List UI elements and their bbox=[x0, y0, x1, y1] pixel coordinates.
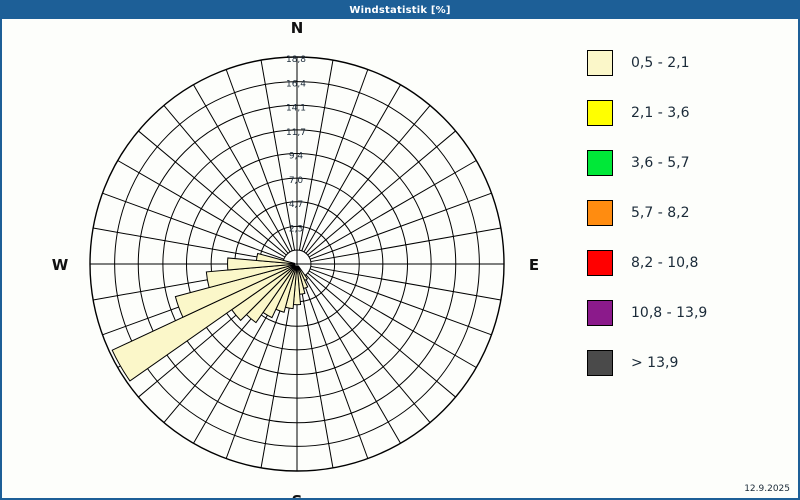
grid-spoke bbox=[304, 276, 401, 443]
petal-group bbox=[112, 253, 308, 380]
grid-spoke bbox=[299, 278, 333, 468]
radial-tick-label: 2,3 bbox=[289, 224, 303, 234]
legend: 0,5 - 2,12,1 - 3,63,6 - 5,75,7 - 8,28,2 … bbox=[587, 38, 787, 388]
legend-label: 8,2 - 10,8 bbox=[631, 255, 698, 271]
grid-spoke bbox=[302, 69, 368, 250]
legend-label: 5,7 - 8,2 bbox=[631, 205, 689, 221]
radial-tick-label: 16,4 bbox=[286, 80, 306, 90]
grid-spoke bbox=[311, 266, 501, 300]
legend-item[interactable]: 0,5 - 2,1 bbox=[587, 38, 787, 88]
legend-label: 3,6 - 5,7 bbox=[631, 155, 689, 171]
legend-swatch bbox=[587, 300, 613, 326]
legend-item[interactable]: 10,8 - 13,9 bbox=[587, 288, 787, 338]
legend-swatch bbox=[587, 100, 613, 126]
radial-tick-labels: 2,34,77,09,411,714,116,418,8 bbox=[286, 55, 306, 234]
legend-item[interactable]: 5,7 - 8,2 bbox=[587, 188, 787, 238]
grid-spoke bbox=[310, 193, 491, 259]
grid-spoke bbox=[311, 228, 501, 262]
window-titlebar: Windstatistik [%] bbox=[2, 2, 798, 19]
grid-spoke bbox=[308, 273, 456, 397]
polar-grid bbox=[90, 57, 504, 471]
legend-item[interactable]: 2,1 - 3,6 bbox=[587, 88, 787, 138]
legend-label: 10,8 - 13,9 bbox=[631, 305, 707, 321]
grid-spoke bbox=[226, 69, 292, 250]
legend-swatch bbox=[587, 350, 613, 376]
date-stamp: 12.9.2025 bbox=[744, 484, 790, 494]
legend-label: > 13,9 bbox=[631, 355, 678, 371]
radial-tick-label: 7,0 bbox=[289, 176, 304, 186]
chart-window: Windstatistik [%] 2,34,77,09,411,714,116… bbox=[0, 0, 800, 500]
grid-spoke bbox=[306, 105, 430, 253]
grid-spoke bbox=[118, 161, 285, 258]
cardinal-label-north: N bbox=[291, 19, 304, 37]
cardinal-label-south: S bbox=[292, 492, 303, 498]
window-title: Windstatistik [%] bbox=[349, 5, 450, 16]
cardinal-label-east: E bbox=[529, 256, 539, 274]
legend-item[interactable]: 3,6 - 5,7 bbox=[587, 138, 787, 188]
legend-swatch bbox=[587, 200, 613, 226]
grid-spoke bbox=[304, 85, 401, 252]
grid-spoke bbox=[308, 131, 456, 255]
radial-tick-label: 4,7 bbox=[289, 200, 303, 210]
legend-swatch bbox=[587, 50, 613, 76]
legend-label: 2,1 - 3,6 bbox=[631, 105, 689, 121]
radial-tick-label: 18,8 bbox=[286, 55, 306, 65]
legend-swatch bbox=[587, 250, 613, 276]
grid-spoke bbox=[306, 275, 430, 423]
grid-spoke bbox=[302, 277, 368, 458]
radial-tick-label: 9,4 bbox=[289, 152, 304, 162]
grid-spoke bbox=[138, 131, 286, 255]
grid-spoke bbox=[164, 105, 288, 253]
legend-item[interactable]: > 13,9 bbox=[587, 338, 787, 388]
grid-spoke bbox=[102, 193, 283, 259]
legend-item[interactable]: 8,2 - 10,8 bbox=[587, 238, 787, 288]
legend-swatch bbox=[587, 150, 613, 176]
legend-label: 0,5 - 2,1 bbox=[631, 55, 689, 71]
grid-spoke bbox=[309, 271, 476, 368]
grid-spoke bbox=[309, 161, 476, 258]
grid-spoke bbox=[194, 85, 291, 252]
radial-tick-label: 14,1 bbox=[286, 103, 306, 113]
cardinal-label-west: W bbox=[52, 256, 69, 274]
radial-tick-label: 11,7 bbox=[286, 128, 306, 138]
grid-spoke bbox=[310, 269, 491, 335]
grid-spoke bbox=[93, 228, 283, 262]
